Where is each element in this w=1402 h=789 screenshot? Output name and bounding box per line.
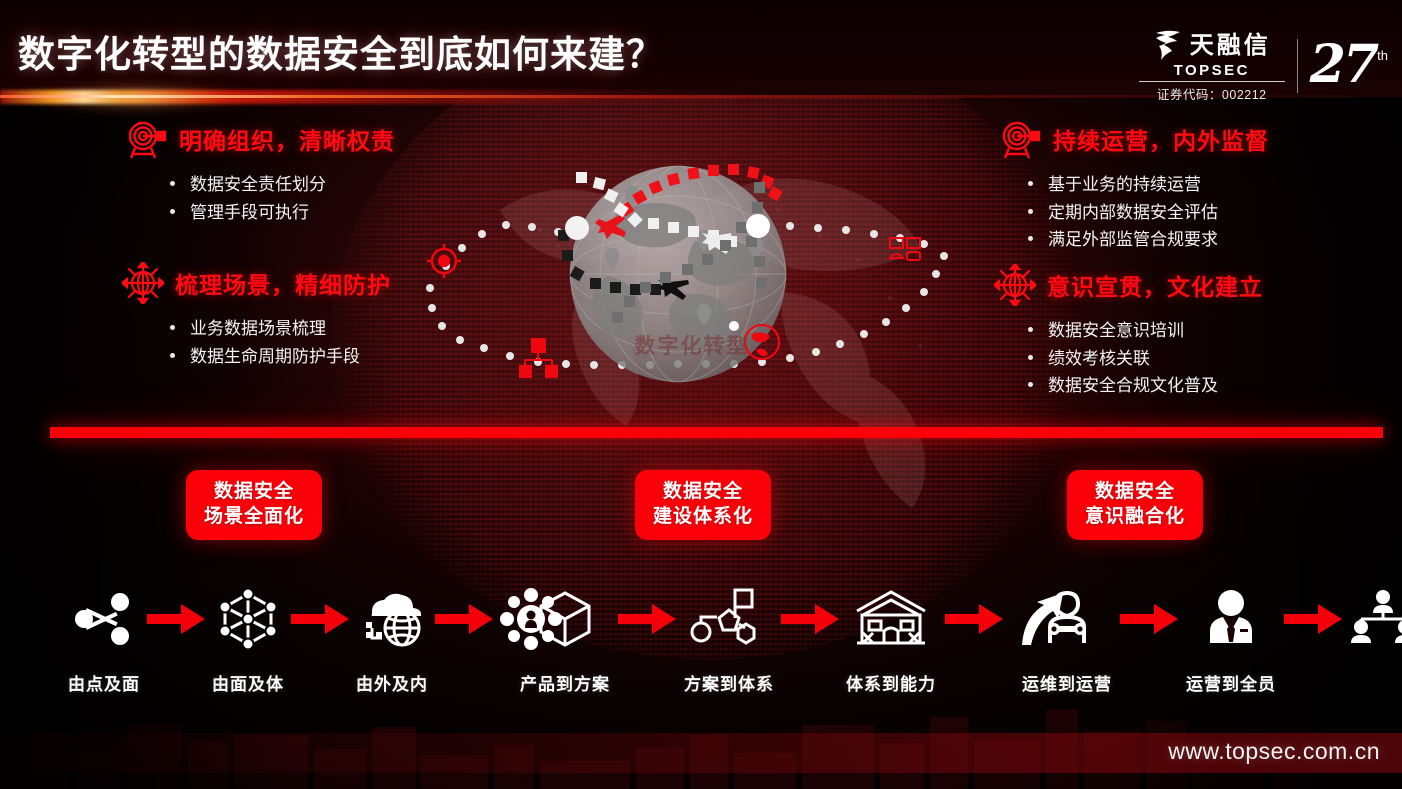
block-title: 持续运营，内外监督 <box>1053 122 1269 156</box>
bullet-dot <box>1028 355 1033 360</box>
info-block-scenarios: 梳理场景，精细防护 业务数据场景梳理 数据生命周期防护手段 <box>122 262 391 370</box>
bullet-text: 数据安全意识培训 <box>1048 317 1184 345</box>
target-dartboard-icon <box>1000 118 1042 160</box>
icon-flow-construction: 产品到方案 方案到体系 <box>520 588 1070 695</box>
topsec-swoosh-logo-icon <box>1153 28 1183 62</box>
brand-name-row: 天融信 <box>1153 28 1271 62</box>
pill-line-1: 数据安全 <box>204 479 304 504</box>
crosshair-target-icon <box>427 244 461 278</box>
info-block-organization: 明确组织，清晰权责 数据安全责任划分 管理手段可执行 <box>126 118 395 226</box>
block-header: 意识宣贯，文化建立 <box>994 264 1263 306</box>
bullet-item: 绩效考核关联 <box>1028 345 1263 373</box>
flow-node: 体系到能力 <box>846 588 936 695</box>
page-title: 数字化转型的数据安全到底如何来建？ <box>18 24 664 78</box>
brand-name-en: TOPSEC <box>1174 63 1250 78</box>
right-arrow-icon <box>936 588 1012 650</box>
bullet-text: 数据生命周期防护手段 <box>190 343 360 371</box>
bullet-dot <box>170 181 175 186</box>
flow-label: 运营到全员 <box>1186 670 1276 695</box>
cube-icon <box>536 588 594 650</box>
info-block-awareness: 意识宣贯，文化建立 数据安全意识培训 绩效考核关联 数据安全合规文化普及 <box>994 264 1263 400</box>
block-header: 明确组织，清晰权责 <box>126 118 395 160</box>
hexagon-network-icon <box>217 588 279 650</box>
pill-line-2: 意识融合化 <box>1085 504 1185 529</box>
right-arrow-icon <box>774 588 846 650</box>
bullet-dot <box>1028 236 1033 241</box>
bullet-text: 业务数据场景梳理 <box>190 315 326 343</box>
flow-node <box>1350 588 1402 670</box>
block-bullet-list: 基于业务的持续运营 定期内部数据安全评估 满足外部监管合规要求 <box>1000 171 1269 254</box>
org-chart-icon <box>520 339 557 377</box>
cloud-globe-icon <box>358 588 426 650</box>
flow-label: 运维到运营 <box>1022 670 1112 695</box>
flow-label: 由外及内 <box>356 670 428 695</box>
share-nodes-icon <box>72 588 136 650</box>
bullet-item: 数据安全责任划分 <box>170 171 395 199</box>
block-title: 明确组织，清晰权责 <box>179 122 395 156</box>
globe-expand-arrows-icon <box>122 262 164 304</box>
bullet-text: 数据安全责任划分 <box>190 171 326 199</box>
bullet-dot <box>170 209 175 214</box>
flow-node: 运营到全员 <box>1186 588 1276 695</box>
bullet-item: 管理手段可执行 <box>170 199 395 227</box>
flow-node: 运维到运营 <box>1022 588 1112 695</box>
bullet-item: 业务数据场景梳理 <box>170 315 391 343</box>
right-arrow-icon <box>284 588 356 650</box>
brand-vertical-divider <box>1297 39 1298 93</box>
bullet-item: 数据安全意识培训 <box>1028 317 1263 345</box>
flow-label: 方案到体系 <box>684 670 774 695</box>
block-header: 持续运营，内外监督 <box>1000 118 1269 160</box>
bullet-dot <box>1028 181 1033 186</box>
right-arrow-icon <box>140 588 212 650</box>
block-header: 梳理场景，精细防护 <box>122 262 391 304</box>
pill-system-construction: 数据安全 建设体系化 <box>635 470 771 540</box>
bullet-text: 管理手段可执行 <box>190 199 309 227</box>
globe-expand-arrows-icon <box>994 264 1036 306</box>
block-bullet-list: 数据安全意识培训 绩效考核关联 数据安全合规文化普及 <box>994 317 1263 400</box>
bullet-text: 绩效考核关联 <box>1048 345 1150 373</box>
target-dartboard-icon <box>126 118 168 160</box>
brand-name-cn: 天融信 <box>1190 33 1271 57</box>
flow-node: 产品到方案 <box>520 588 610 695</box>
anniversary-number: 27 <box>1310 44 1376 87</box>
shapes-diagram-icon <box>689 588 769 650</box>
brand-divider-rule <box>1139 81 1285 82</box>
anniversary-suffix: th <box>1377 48 1388 63</box>
bullet-dot <box>170 325 175 330</box>
right-arrow-icon <box>1276 588 1350 650</box>
flow-node: 由点及面 <box>68 588 140 695</box>
anniversary-badge: 27 th <box>1310 44 1388 87</box>
brand-stock-code: 证券代码：002212 <box>1157 84 1267 103</box>
bullet-text: 满足外部监管合规要求 <box>1048 226 1218 254</box>
technician-person-icon <box>1038 588 1096 650</box>
bullet-dot <box>1028 327 1033 332</box>
right-arrow-icon <box>428 588 500 650</box>
devices-icon <box>890 238 920 260</box>
icon-flow-scenarios: 由点及面 由面及体 <box>68 588 562 695</box>
flow-label: 由点及面 <box>68 670 140 695</box>
bullet-dot <box>170 353 175 358</box>
team-group-icon <box>1350 588 1402 650</box>
footer-website-url: www.topsec.com.cn <box>1168 738 1380 765</box>
flow-label: 体系到能力 <box>846 670 936 695</box>
right-arrow-icon <box>610 588 684 650</box>
brand-topsec: 天融信 TOPSEC 证券代码：002212 <box>1139 28 1285 103</box>
flow-node: 由外及内 <box>356 588 428 695</box>
flow-label: 产品到方案 <box>520 670 610 695</box>
header-flare-hotspot <box>20 82 250 112</box>
block-title: 梳理场景，精细防护 <box>175 266 391 300</box>
bullet-item: 定期内部数据安全评估 <box>1028 199 1269 227</box>
orbit-node-right <box>746 214 770 238</box>
businessman-person-icon <box>1202 588 1260 650</box>
bullet-item: 基于业务的持续运营 <box>1028 171 1269 199</box>
pill-scenario-coverage: 数据安全 场景全面化 <box>186 470 322 540</box>
pill-line-2: 建设体系化 <box>653 504 753 529</box>
bullet-text: 基于业务的持续运营 <box>1048 171 1201 199</box>
icon-flow-awareness: 运维到运营 运营到全员 <box>1022 588 1402 695</box>
bullet-item: 数据生命周期防护手段 <box>170 343 391 371</box>
building-icon <box>853 588 929 650</box>
block-title: 意识宣贯，文化建立 <box>1047 268 1263 302</box>
pill-awareness-integration: 数据安全 意识融合化 <box>1067 470 1203 540</box>
bullet-item: 数据安全合规文化普及 <box>1028 372 1263 400</box>
info-block-operations: 持续运营，内外监督 基于业务的持续运营 定期内部数据安全评估 满足外部监管合规要… <box>1000 118 1269 254</box>
flow-node: 由面及体 <box>212 588 284 695</box>
block-bullet-list: 数据安全责任划分 管理手段可执行 <box>126 171 395 226</box>
center-caption: 数字化转型 <box>612 330 772 360</box>
brand-logo-group: 天融信 TOPSEC 证券代码：002212 27 th <box>1139 28 1388 103</box>
right-arrow-icon <box>1112 588 1186 650</box>
bullet-text: 数据安全合规文化普及 <box>1048 372 1218 400</box>
bullet-dot <box>1028 382 1033 387</box>
pill-line-2: 场景全面化 <box>204 504 304 529</box>
bullet-item: 满足外部监管合规要求 <box>1028 226 1269 254</box>
bullet-dot <box>1028 209 1033 214</box>
flow-label: 由面及体 <box>212 670 284 695</box>
red-section-divider <box>50 427 1383 438</box>
orbit-node-left <box>565 216 589 240</box>
pill-line-1: 数据安全 <box>1085 479 1185 504</box>
pill-line-1: 数据安全 <box>653 479 753 504</box>
flow-node: 方案到体系 <box>684 588 774 695</box>
bullet-text: 定期内部数据安全评估 <box>1048 199 1218 227</box>
block-bullet-list: 业务数据场景梳理 数据生命周期防护手段 <box>122 315 391 370</box>
